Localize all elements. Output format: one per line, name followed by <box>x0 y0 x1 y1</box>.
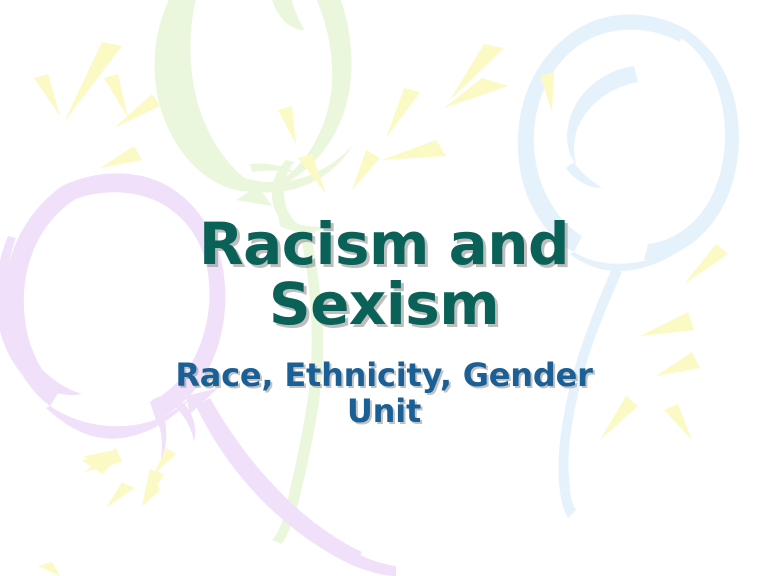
subtitle-placeholder: Race, Ethnicity, Gender Unit <box>149 357 619 430</box>
title-placeholder: Racism and Sexism <box>149 214 619 335</box>
slide-text-layer: Racism and Sexism Race, Ethnicity, Gende… <box>0 0 768 576</box>
page-subtitle: Race, Ethnicity, Gender Unit <box>149 357 619 430</box>
title-slide: Racism and Sexism Race, Ethnicity, Gende… <box>0 0 768 576</box>
page-title: Racism and Sexism <box>149 214 619 335</box>
